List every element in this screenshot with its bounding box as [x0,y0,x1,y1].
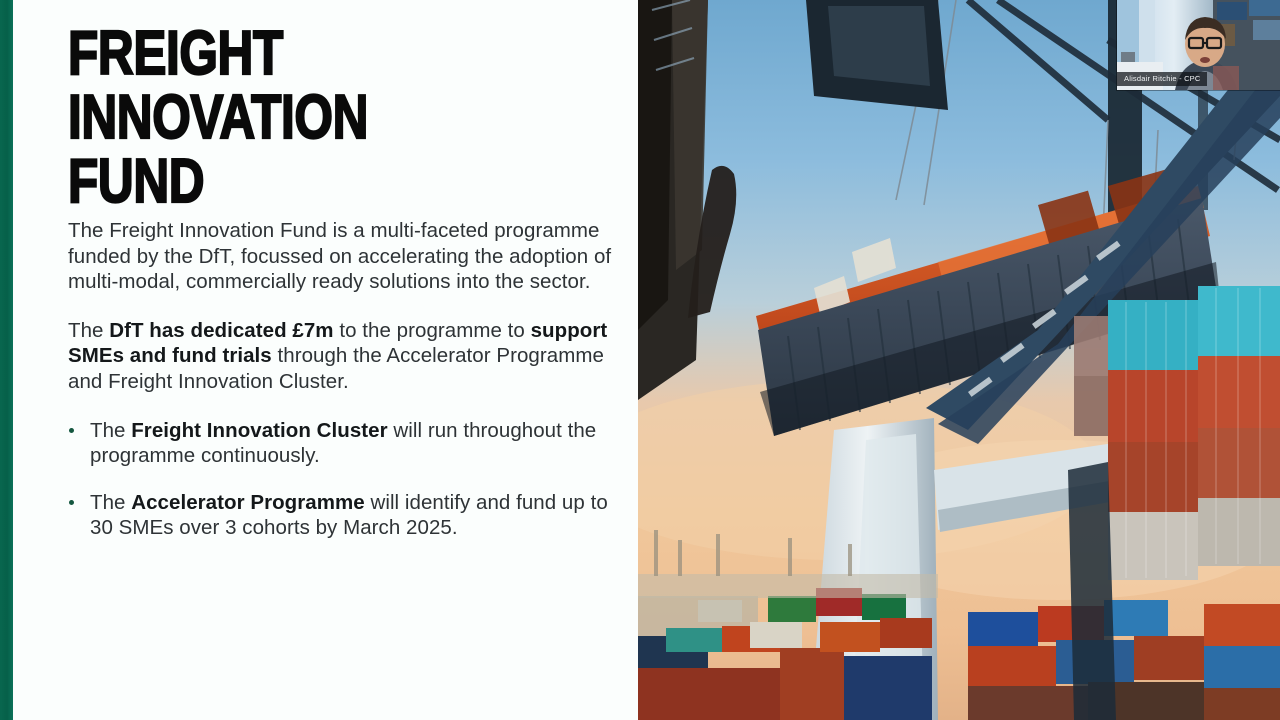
webcam-tile[interactable]: Alisdair Ritchie - CPC [1117,0,1280,90]
presentation-slide: FREIGHT INNOVATION FUND The Freight Inno… [0,0,1280,720]
list-item: The Accelerator Programme will identify … [68,490,618,541]
emphasis-text: DfT has dedicated £7m [109,319,333,342]
bullet-list: The Freight Innovation Cluster will run … [68,418,618,541]
plain-text: The Freight Innovation Fund is a multi-f… [68,219,611,293]
slide-photo [638,0,1280,720]
paragraph-funding: The DfT has dedicated £7m to the program… [68,318,618,395]
page-title: FREIGHT INNOVATION FUND [68,22,516,214]
port-crane-photo-illustration [638,0,1280,720]
participant-name-label: Alisdair Ritchie - CPC [1117,72,1207,86]
plain-text: to the programme to [334,319,531,342]
list-item-text: The Freight Innovation Cluster will run … [90,419,596,468]
slide-body: The Freight Innovation Fund is a multi-f… [68,218,618,541]
plain-text: The [90,491,131,514]
list-item-text: The Accelerator Programme will identify … [90,491,608,540]
bullet-dot-icon [69,428,74,433]
paragraph-intro: The Freight Innovation Fund is a multi-f… [68,218,618,295]
accent-stripe-gradient [0,0,13,720]
emphasis-text: Freight Innovation Cluster [131,419,387,442]
list-item: The Freight Innovation Cluster will run … [68,418,618,469]
bullet-dot-icon [69,500,74,505]
accent-stripe [0,0,13,720]
emphasis-text: Accelerator Programme [131,491,365,514]
plain-text: The [90,419,131,442]
plain-text: The [68,319,109,342]
slide-content-panel: FREIGHT INNOVATION FUND The Freight Inno… [13,0,638,720]
